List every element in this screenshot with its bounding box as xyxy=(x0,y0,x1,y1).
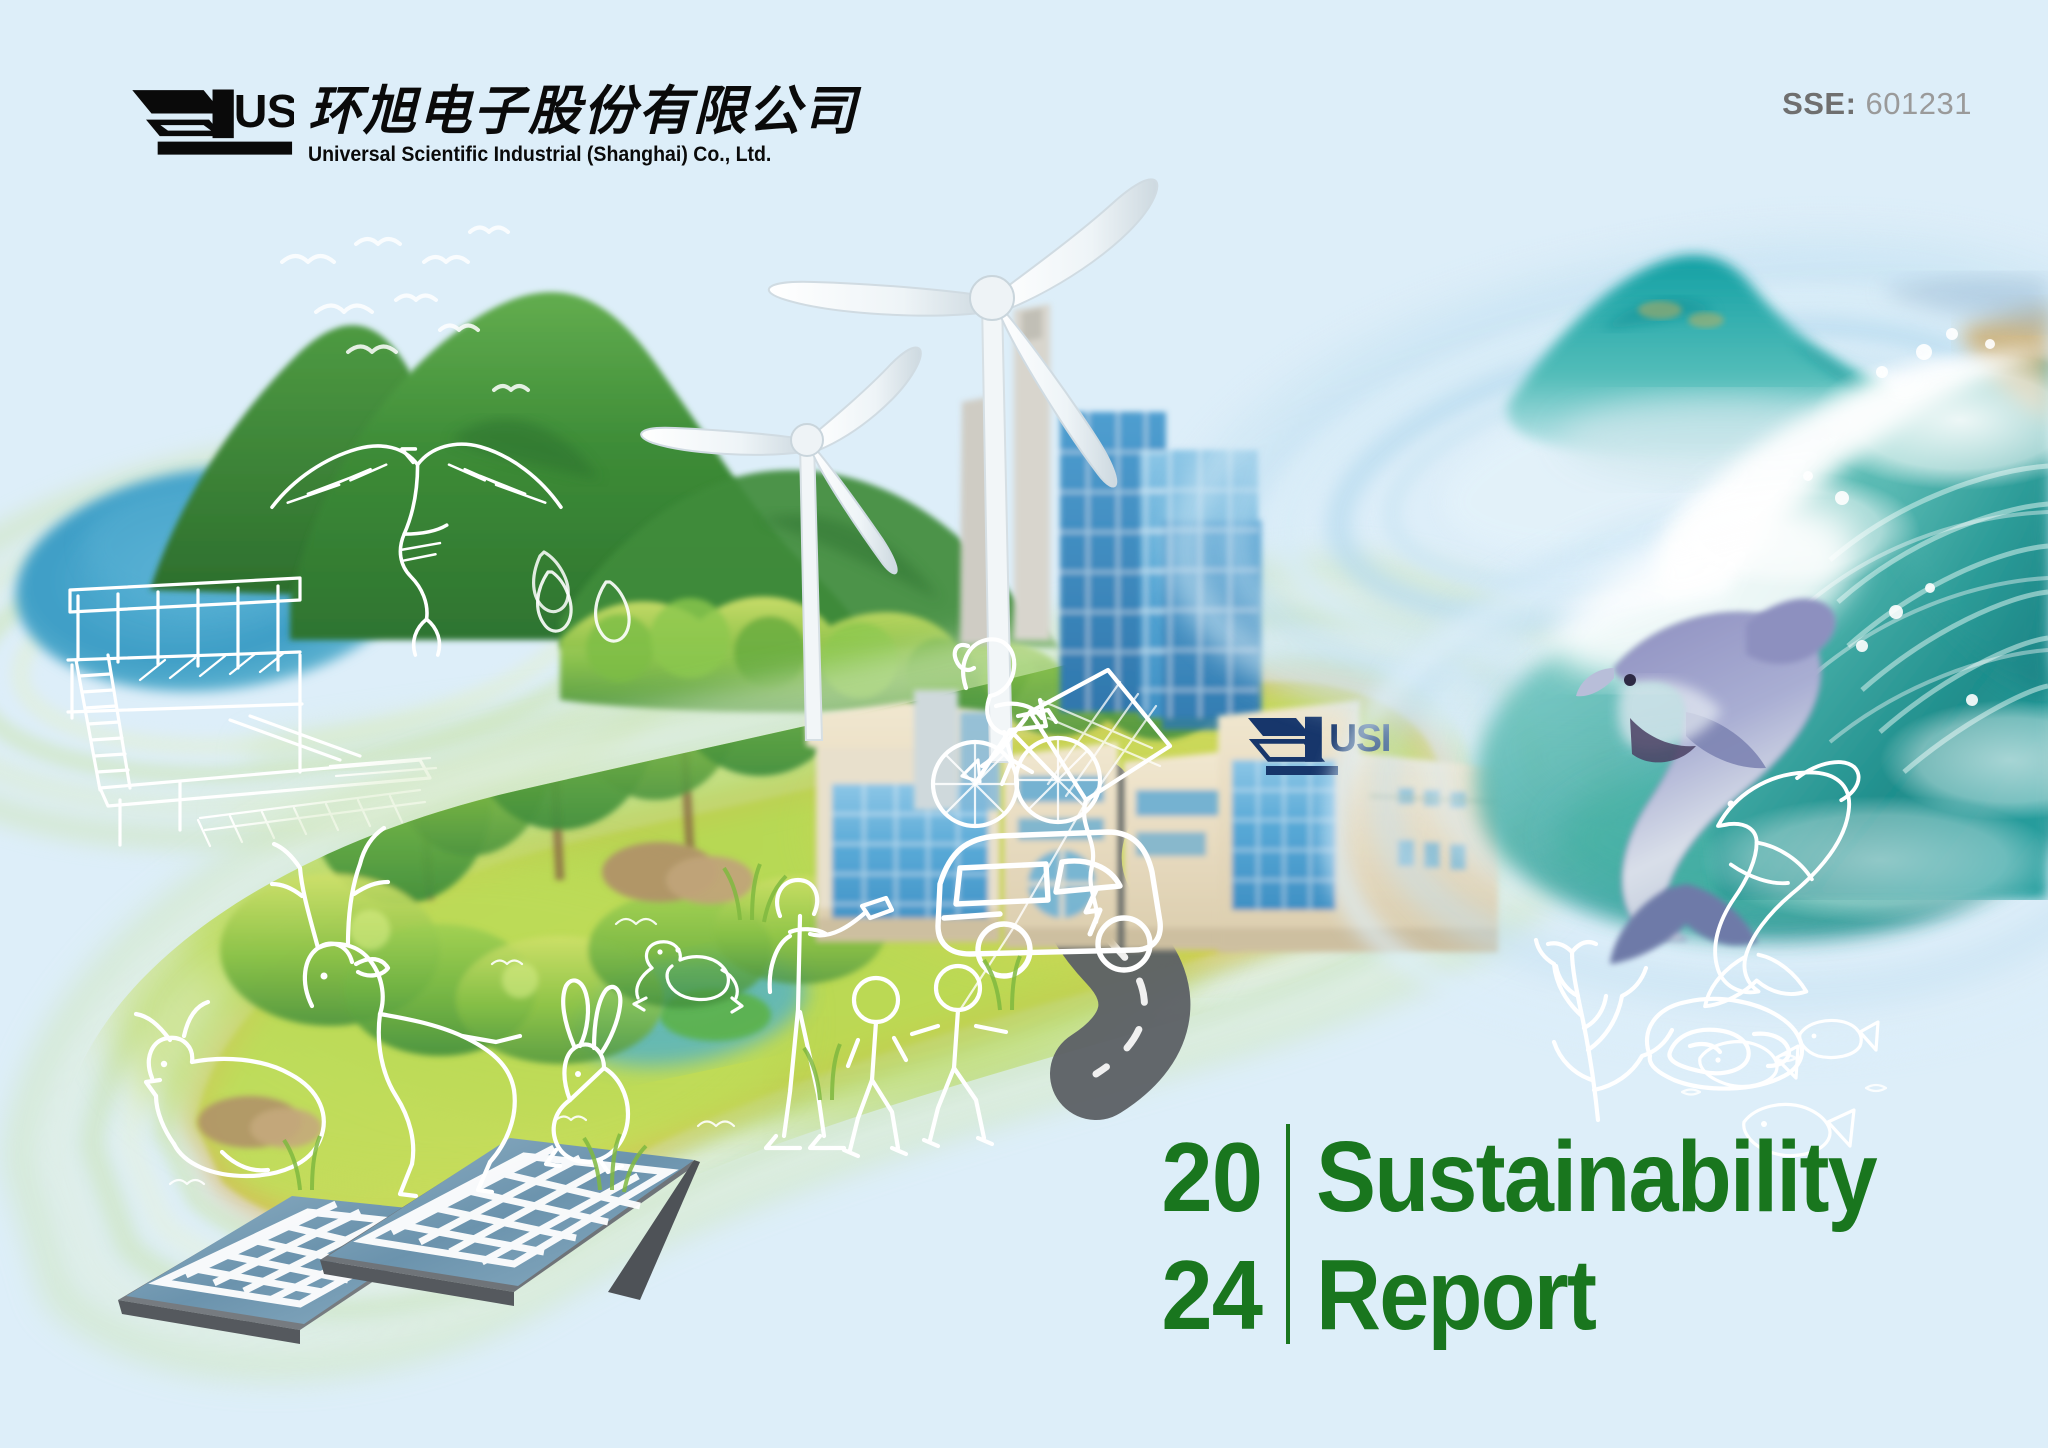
company-name-chinese: 环旭电子股份有限公司 xyxy=(308,84,858,140)
stock-listing: SSE: 601231 xyxy=(1782,86,1972,122)
report-name: Sustainability Report xyxy=(1316,1118,1876,1354)
year-top: 20 xyxy=(1161,1118,1262,1236)
usi-parallelogram-mark: USI xyxy=(129,84,294,156)
svg-text:USI: USI xyxy=(234,85,294,137)
ticker-number: 601231 xyxy=(1866,86,1972,121)
company-name-english: Universal Scientific Industrial (Shangha… xyxy=(308,142,820,168)
year-bottom: 24 xyxy=(1161,1236,1262,1354)
exchange-label: SSE: xyxy=(1782,86,1856,121)
usi-company-logo: USI 环旭电子股份有限公司 Universal Scientific Indu… xyxy=(129,84,858,168)
report-title: 20 24 Sustainability Report xyxy=(1155,1118,1938,1354)
title-word-report: Report xyxy=(1316,1236,1876,1354)
title-word-sustainability: Sustainability xyxy=(1316,1118,1876,1236)
report-year: 20 24 xyxy=(1161,1118,1262,1354)
title-divider-rule xyxy=(1286,1124,1290,1344)
cover-header: USI 环旭电子股份有限公司 Universal Scientific Indu… xyxy=(0,0,2048,200)
report-cover: USI xyxy=(0,0,2048,1448)
